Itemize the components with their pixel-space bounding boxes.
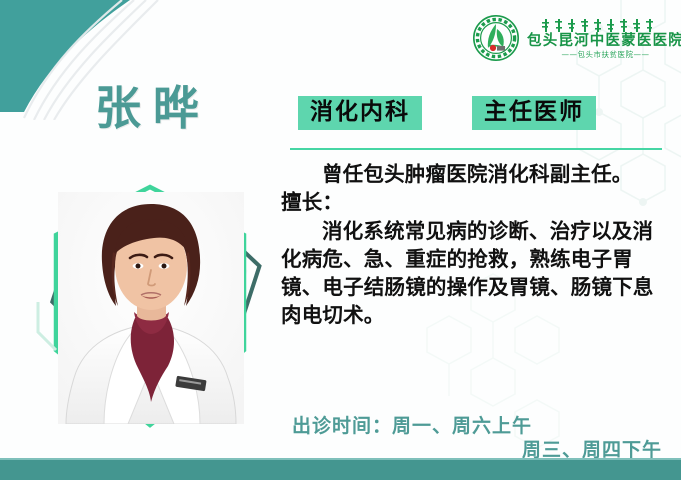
schedule-label: 出诊时间： — [292, 415, 392, 437]
schedule-line-1: 周一、周六上午 — [392, 415, 532, 437]
doctor-profile-card: 包头昆河中医蒙医医院 ——包头市扶贫医院—— 张晔 消化内科 主任医师 曾任包头… — [0, 0, 681, 480]
doctor-bio: 曾任包头肿瘤医院消化科副主任。 擅长： 消化系统常见病的诊断、治疗以及消化病危、… — [281, 160, 673, 330]
credential-badges: 消化内科 主任医师 — [298, 96, 596, 130]
mongolian-script-text — [541, 18, 671, 33]
doctor-photo-frame — [28, 182, 273, 437]
hospital-subtitle: ——包头市扶贫医院—— — [562, 51, 650, 59]
consultation-schedule: 出诊时间：周一、周六上午 周三、周四下午 — [292, 414, 670, 463]
hospital-logo: 包头昆河中医蒙医医院 ——包头市扶贫医院—— — [472, 14, 681, 62]
doctor-name: 张晔 — [95, 72, 211, 138]
bio-paragraph-experience: 曾任包头肿瘤医院消化科副主任。 — [281, 160, 673, 188]
hospital-leaf-emblem-icon — [472, 14, 520, 62]
portrait-illustration — [58, 192, 244, 424]
hospital-name: 包头昆河中医蒙医医院 — [527, 34, 681, 49]
doctor-portrait-photo — [58, 192, 244, 424]
footer-bar — [0, 458, 681, 480]
bio-paragraph-specialty: 消化系统常见病的诊断、治疗以及消化病危、急、重症的抢救，熟练电子胃镜、电子结肠镜… — [281, 217, 673, 330]
status-badge-department: 消化内科 — [298, 96, 422, 130]
status-badge-title: 主任医师 — [472, 96, 596, 130]
bio-label-specialty: 擅长： — [281, 188, 673, 216]
section-divider — [290, 148, 662, 150]
